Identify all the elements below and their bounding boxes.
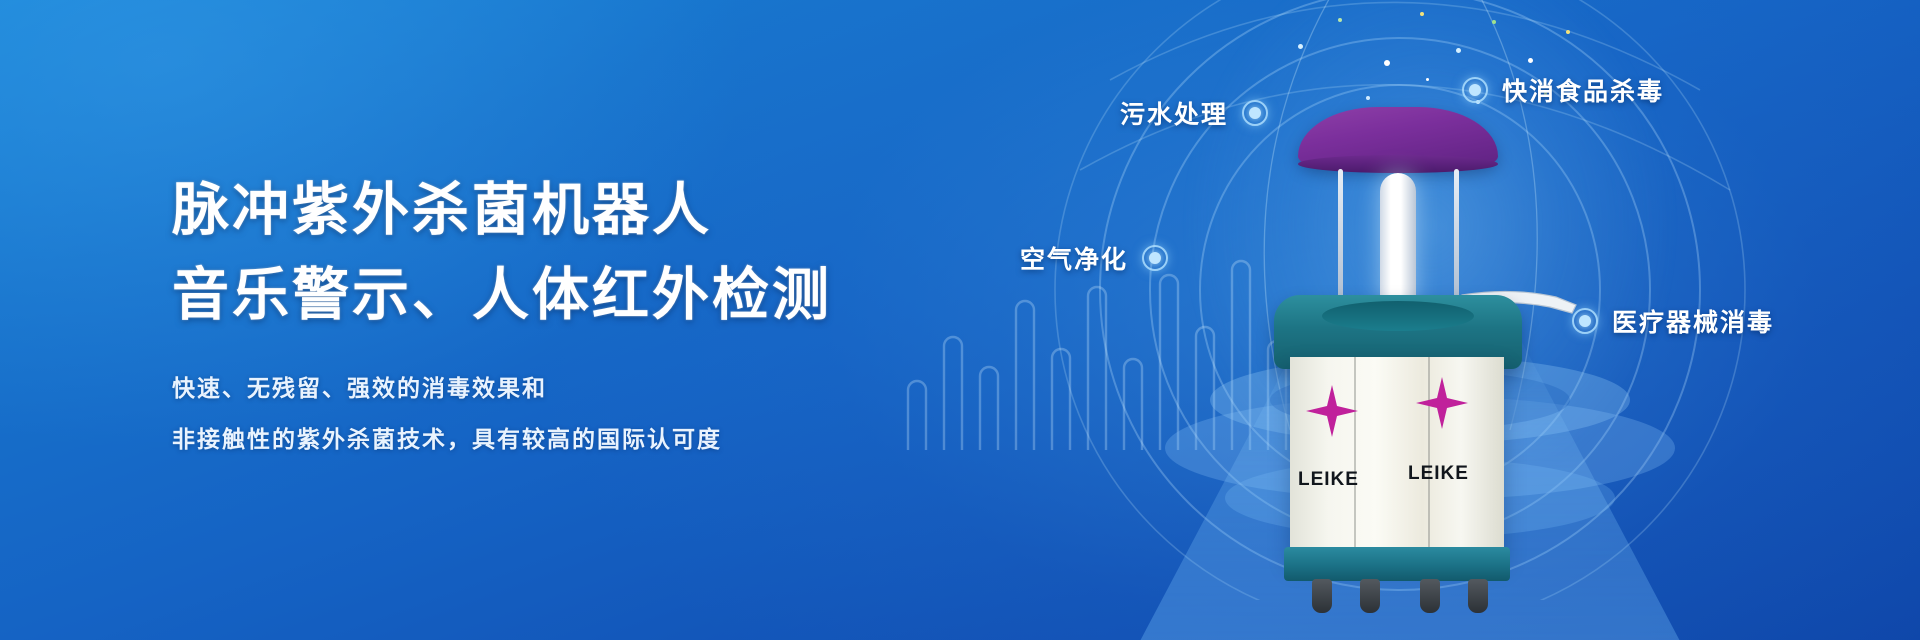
sparkle-star-icon [1306,385,1358,437]
feature-label-medical-equipment[interactable]: 医疗器械消毒 [1572,303,1774,339]
uv-disinfection-robot: LEIKE LEIKE [1268,95,1528,595]
node-circle-icon [1142,245,1168,271]
support-rod-right [1454,169,1459,307]
top-recess [1322,301,1474,331]
brand-label-left: LEIKE [1298,469,1359,491]
caster-wheel [1360,579,1380,613]
feature-label-text: 污水处理 [1120,95,1228,131]
dome-lip [1298,155,1498,173]
subtitle-block: 快速、无残留、强效的消毒效果和 非接触性的紫外杀菌技术，具有较高的国际认可度 [172,374,932,455]
feature-label-air-purification[interactable]: 空气净化 [1020,240,1168,276]
brand-label-right: LEIKE [1408,463,1469,485]
feature-label-text: 空气净化 [1020,240,1128,276]
support-rod-left [1338,169,1343,307]
sparkle-star-icon [1416,377,1468,429]
caster-wheel [1312,579,1332,613]
feature-label-wastewater[interactable]: 污水处理 [1120,95,1268,131]
copy-block: 脉冲紫外杀菌机器人 音乐警示、人体红外检测 快速、无残留、强效的消毒效果和 非接… [172,175,932,454]
page-title-line-2: 音乐警示、人体红外检测 [172,260,932,331]
uv-lamp-tube [1380,173,1416,303]
node-circle-icon [1242,100,1268,126]
caster-wheel [1420,579,1440,613]
teal-base [1284,547,1510,581]
banner-stage: 脉冲紫外杀菌机器人 音乐警示、人体红外检测 快速、无残留、强效的消毒效果和 非接… [0,0,1920,640]
caster-wheel [1468,579,1488,613]
subtitle-line-2: 非接触性的紫外杀菌技术，具有较高的国际认可度 [172,425,932,454]
subtitle-line-1: 快速、无残留、强效的消毒效果和 [172,374,932,403]
feature-label-text: 医疗器械消毒 [1612,303,1774,339]
page-title-line-1: 脉冲紫外杀菌机器人 [172,175,932,246]
